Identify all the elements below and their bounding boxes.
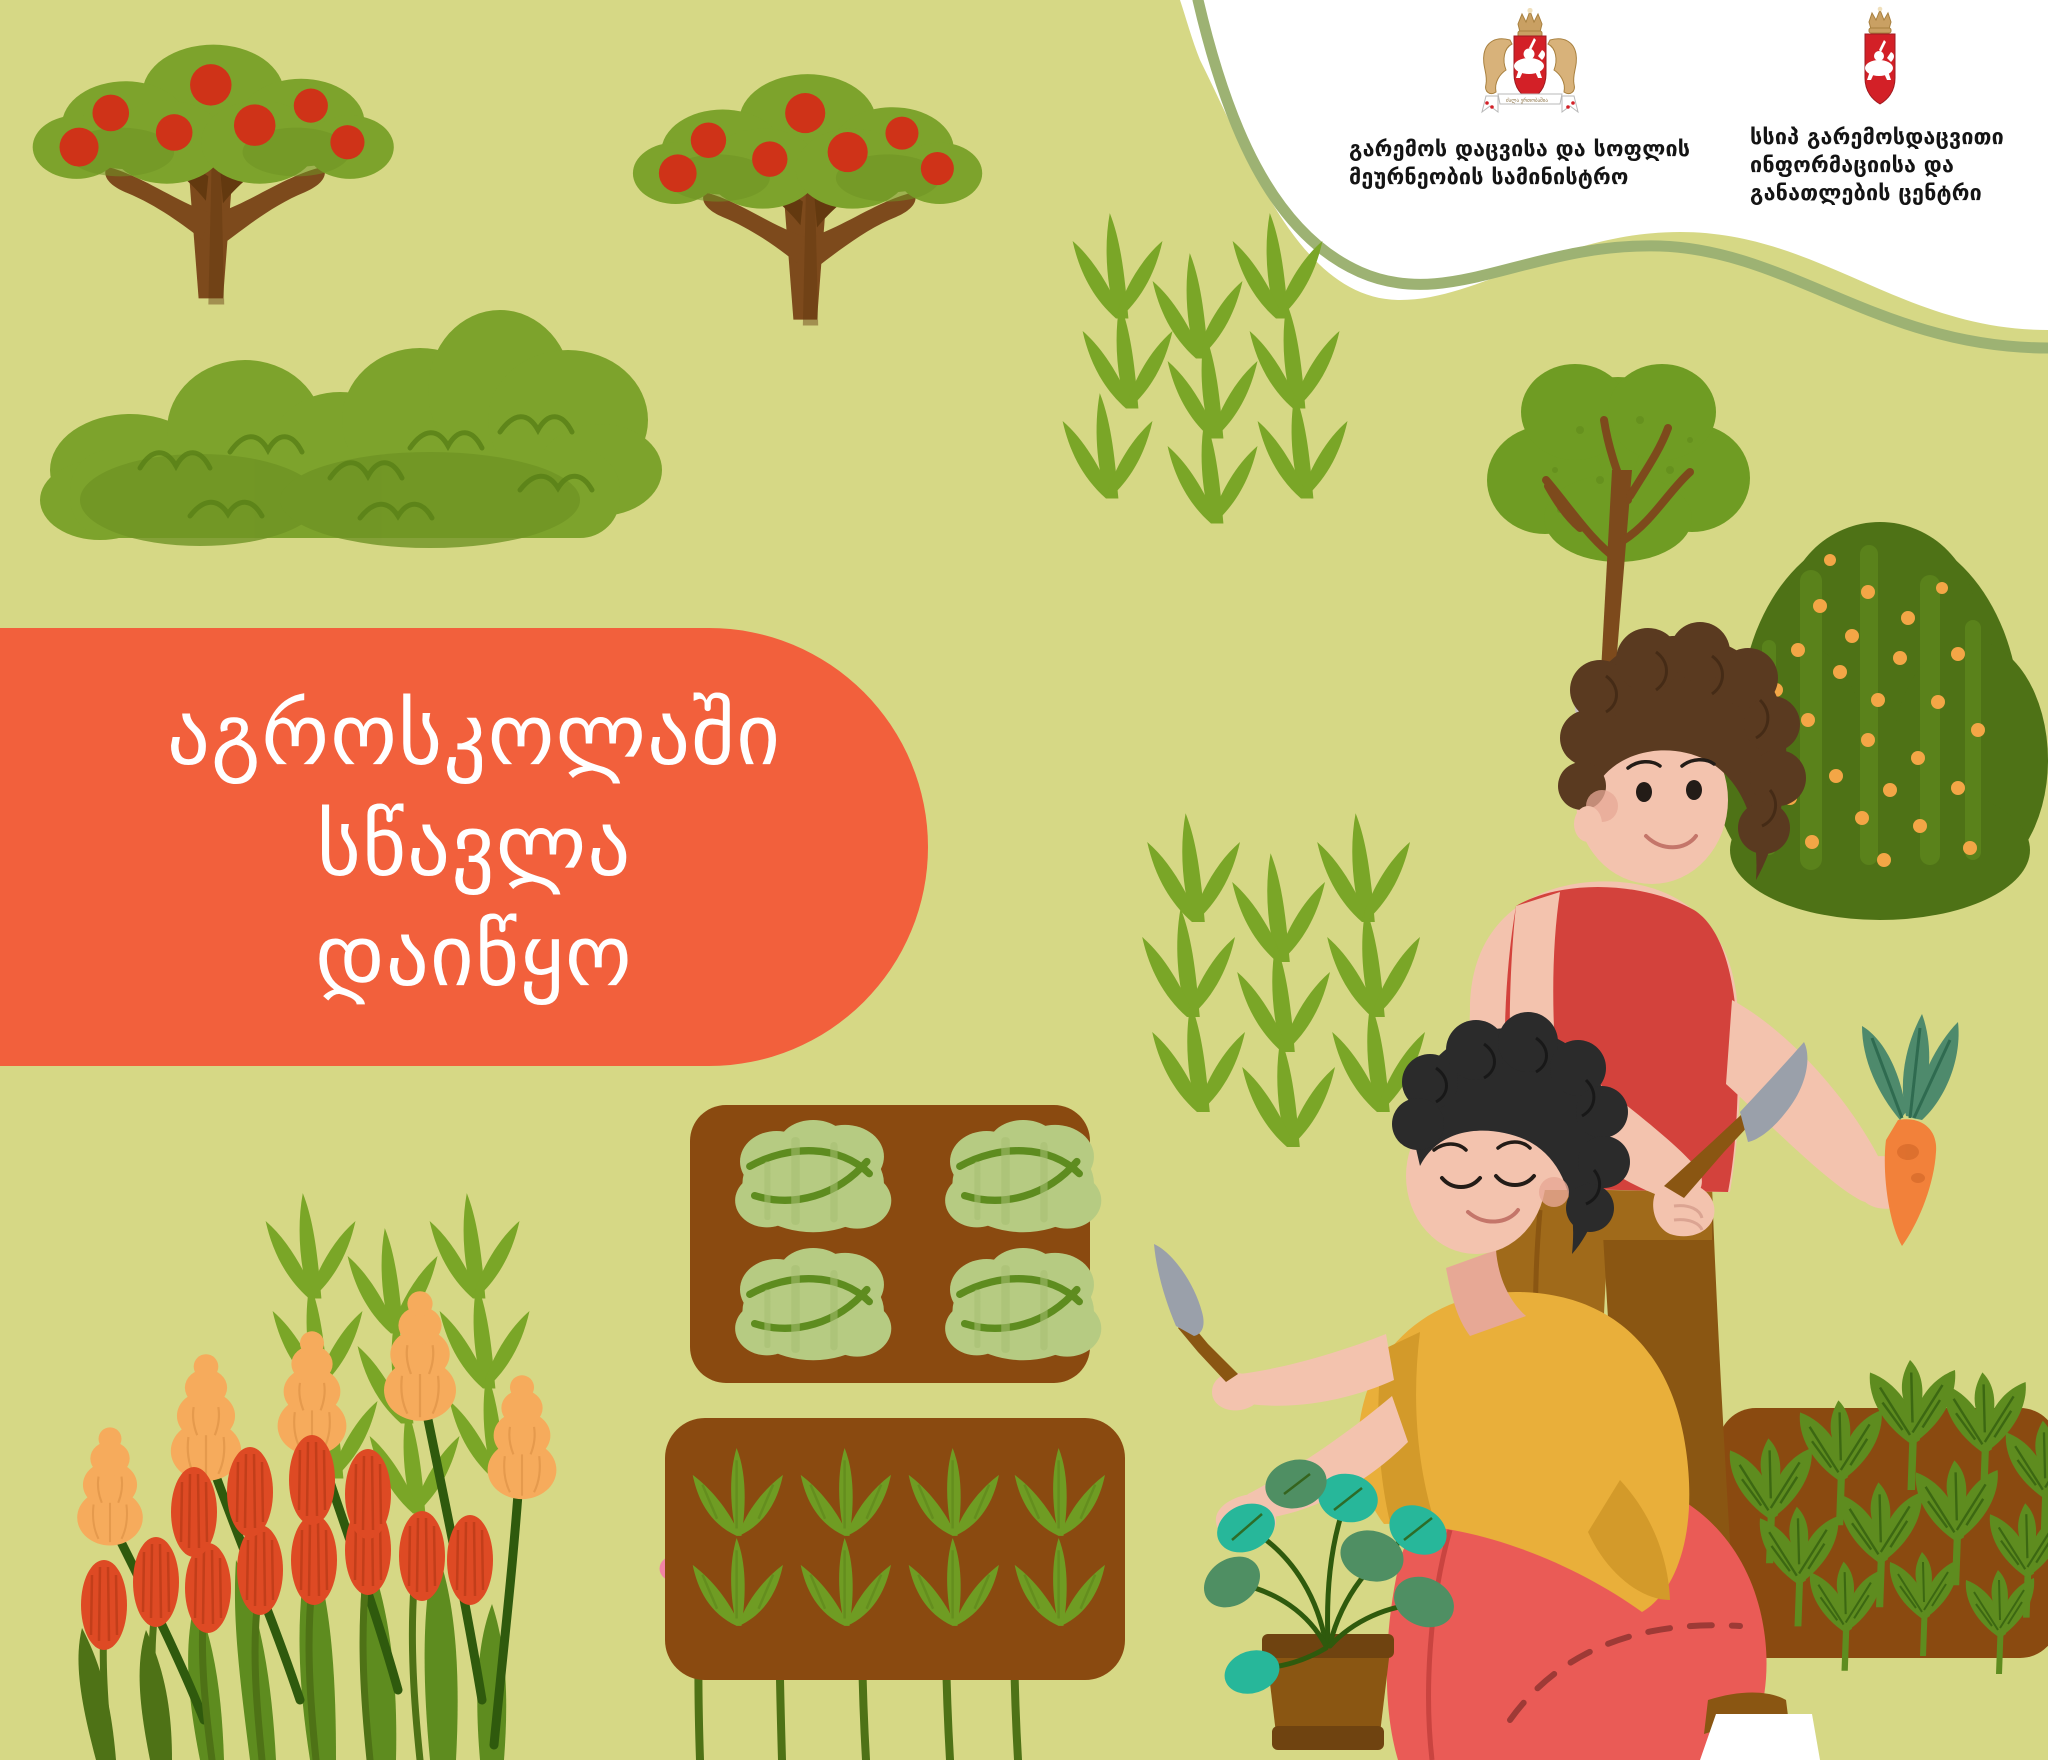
page-title: აგროსკოლაში სწავლა დაიწყო [64,681,884,1013]
poster-canvas: აგროსკოლაში სწავლა დაიწყო [0,0,2048,1760]
logo-center-caption: სსიპ გარემოსდაცვითი ინფორმაციისა და განა… [1750,124,2010,208]
logo-ministry-caption: გარემოს დაცვისა და სოფლის მეურნეობის სამ… [1349,136,1711,192]
georgia-coat-of-arms-icon: ძალა ერთობაშია [1472,8,1588,124]
header-logos: ძალა ერთობაშია გარემოს დაცვისა და სოფლის… [1330,0,2048,230]
environmental-center-emblem-icon [1845,6,1915,114]
logo-environmental-center: სსიპ გარემოსდაცვითი ინფორმაციისა და განა… [1730,0,2030,208]
svg-text:ძალა ერთობაშია: ძალა ერთობაშია [1506,97,1548,104]
logo-ministry: ძალა ერთობაშია გარემოს დაცვისა და სოფლის… [1330,0,1730,192]
cabbage-bed [690,1105,1101,1383]
sprout-bed [665,1418,1125,1680]
title-banner: აგროსკოლაში სწავლა დაიწყო [0,628,928,1066]
